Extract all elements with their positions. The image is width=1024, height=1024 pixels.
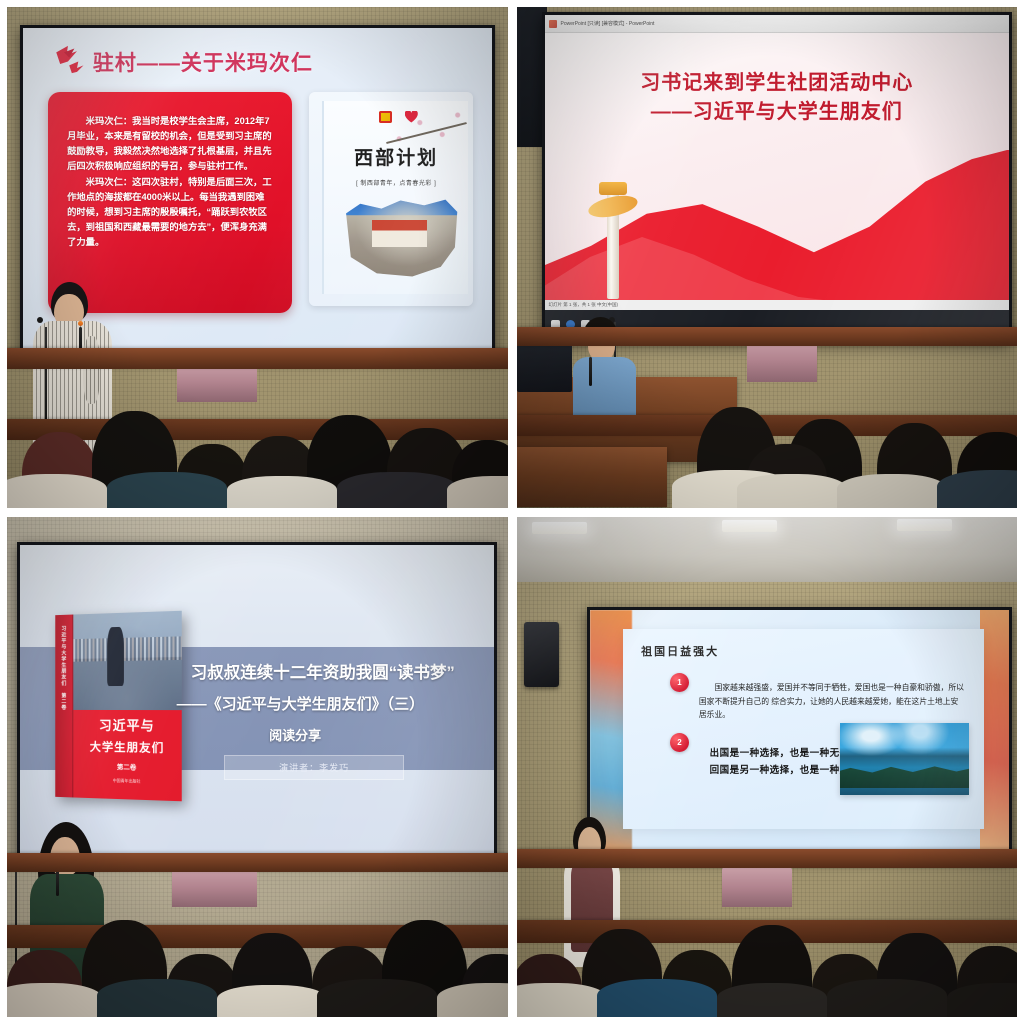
slide-title-line-3: 阅读分享 <box>219 725 371 744</box>
audience-shoulders <box>227 476 337 508</box>
photo-bottom-right: 祖国日益强大 1 国家越来越强盛，爱国并不等同于牺牲，爱国也是一种自豪和骄傲，所… <box>517 517 1018 1018</box>
audience-shoulders <box>937 470 1017 508</box>
slide-title-line-2: ——《习近平与大学生朋友们》（三） <box>177 693 495 714</box>
book-cover-photo <box>74 610 182 709</box>
audience-area <box>7 297 508 507</box>
ceiling-light <box>532 522 587 534</box>
huabiao-cap <box>599 182 627 195</box>
bench-desk <box>517 849 1018 868</box>
dove-icon <box>46 42 98 81</box>
ceiling-light <box>722 520 777 532</box>
audience-shoulders <box>7 983 102 1017</box>
audience-shoulders <box>597 979 717 1017</box>
bench-desk <box>7 853 508 872</box>
audience-shoulders <box>837 474 947 508</box>
audience-shoulders <box>947 983 1017 1017</box>
bullet-number-badge: 2 <box>670 733 689 752</box>
quote-paragraph-2: 米玛次仁：这四次驻村，特别是后面三次，工作地点的海拔都在4000米以上。每当我遇… <box>67 175 274 250</box>
audience-shoulders <box>7 474 107 508</box>
crowd-illustration <box>74 636 182 662</box>
book-volume: 第二卷 <box>74 760 182 773</box>
audience-area <box>7 807 508 1017</box>
youth-league-emblem-icon <box>379 111 392 123</box>
audience-shoulders <box>827 979 947 1017</box>
photo-collage: 驻村——关于米玛次仁 米玛次仁：我当时是校学生会主席，2012年7月毕业，本来是… <box>0 0 1024 1024</box>
content-card: 祖国日益强大 1 国家越来越强盛，爱国并不等同于牺牲，爱国也是一种自豪和骄傲，所… <box>623 629 984 829</box>
xibu-jihua-poster: 西部计划 [ 制西部青年，点青春光彩 ] <box>322 101 468 294</box>
powerpoint-icon <box>549 20 557 28</box>
audience-shoulders <box>517 983 607 1017</box>
slide-title-line-1: 习书记来到学生社团活动中心 <box>545 66 1009 95</box>
ceiling-light <box>897 519 952 531</box>
speaker-label: 演讲者：李发巧 <box>224 755 404 780</box>
audience-shoulders <box>97 979 217 1017</box>
powerpoint-titlebar-text: PowerPoint [只读] [兼容模式] - PowerPoint <box>561 20 655 27</box>
audience-shoulders <box>437 983 507 1017</box>
audience-shoulders <box>317 979 437 1017</box>
audience-shoulders <box>737 474 847 508</box>
poster-title: 西部计划 <box>324 143 468 170</box>
audience-shoulders <box>217 985 327 1017</box>
audience-shoulders <box>107 472 227 508</box>
quote-box: 米玛次仁：我当时是校学生会主席，2012年7月毕业，本来是有留校的机会，但是受到… <box>48 92 292 313</box>
bench-desk <box>7 348 508 369</box>
lake-scenery-image <box>840 723 970 795</box>
wall-speaker <box>524 622 559 687</box>
bullet-text-2-line-a: 出国是一种选择，也是一种无奈； <box>710 745 860 759</box>
photo-top-left: 驻村——关于米玛次仁 米玛次仁：我当时是校学生会主席，2012年7月毕业，本来是… <box>7 7 508 508</box>
potala-palace-illustration <box>341 197 459 278</box>
bench-desk <box>517 327 1018 346</box>
book-title-line-1: 习近平与 <box>74 714 182 734</box>
slide-heading: 祖国日益强大 <box>641 643 719 659</box>
bullet-number-badge: 1 <box>670 673 689 692</box>
slide-title-line-1: 习叔叔连续十二年资助我圆“读书梦” <box>191 659 495 683</box>
audience-area <box>517 297 1018 507</box>
photo-bottom-left: 习近平与大学生朋友们 第二卷 习近平与 大学生朋友们 第二卷 中国青年出版社 习… <box>7 517 508 1018</box>
photo-top-right: PowerPoint [只读] [兼容模式] - PowerPoint 习书记来… <box>517 7 1018 508</box>
powerpoint-titlebar[interactable]: PowerPoint [只读] [兼容模式] - PowerPoint <box>545 15 1009 33</box>
audience-shoulders <box>337 472 457 508</box>
poster-subtitle: [ 制西部青年，点青春光彩 ] <box>324 178 468 187</box>
poster-panel: 西部计划 [ 制西部青年，点青春光彩 ] <box>309 92 473 306</box>
powerpoint-window: PowerPoint [只读] [兼容模式] - PowerPoint 习书记来… <box>545 15 1009 339</box>
projection-screen: PowerPoint [只读] [兼容模式] - PowerPoint 习书记来… <box>542 12 1012 342</box>
slide-canvas: 习书记来到学生社团活动中心 ——习近平与大学生朋友们 <box>545 33 1009 310</box>
book-cover: 习近平与大学生朋友们 第二卷 习近平与 大学生朋友们 第二卷 中国青年出版社 <box>55 610 182 800</box>
audience-area <box>517 807 1018 1017</box>
book-spine-text: 习近平与大学生朋友们 第二卷 <box>61 625 68 710</box>
bullet-text-1: 国家越来越强盛，爱国并不等同于牺牲，爱国也是一种自豪和骄傲，所以国家不断提升自己… <box>699 681 966 722</box>
audience-shoulders <box>717 983 827 1017</box>
audience-shoulders <box>447 476 507 508</box>
book-title-line-2: 大学生朋友们 <box>74 738 182 756</box>
slide-title-line-2: ——习近平与大学生朋友们 <box>545 95 1009 124</box>
huabiao-column-illustration <box>596 177 631 299</box>
book-spine: 习近平与大学生朋友们 第二卷 <box>55 614 73 797</box>
slide-title: 驻村——关于米玛次仁 <box>93 47 313 77</box>
quote-paragraph-1: 米玛次仁：我当时是校学生会主席，2012年7月毕业，本来是有留校的机会，但是受到… <box>67 114 274 174</box>
book-publisher: 中国青年出版社 <box>74 777 182 786</box>
